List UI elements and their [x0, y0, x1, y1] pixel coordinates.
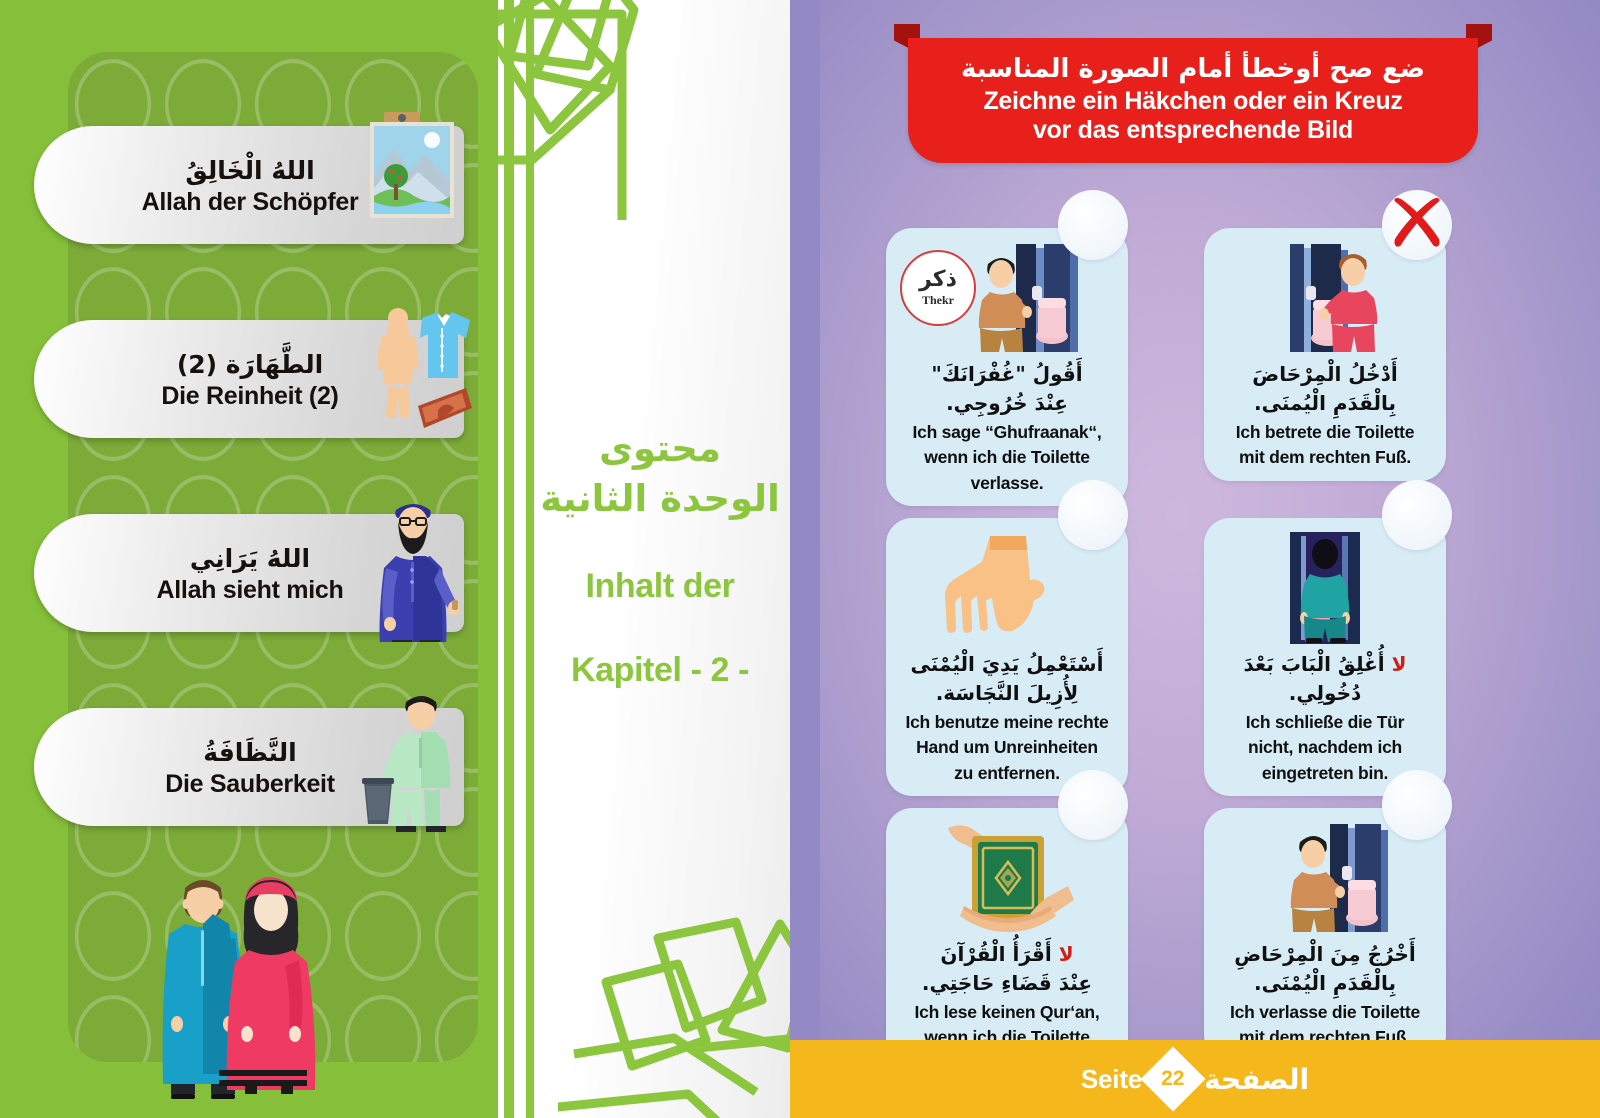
- page-number: 22: [1161, 1067, 1184, 1091]
- card-german-line1-1: Ich sage “Ghufraanak“,: [912, 421, 1101, 443]
- thekr-logo-icon: ذكر Thekr: [900, 250, 976, 326]
- card-german-line1-5: Ich lese keinen Qur‘an,: [915, 1001, 1100, 1023]
- topic-item-4[interactable]: النَّظَافَةُ Die Sauberkeit: [34, 708, 464, 826]
- topic-item-2[interactable]: الطَّهَارَة (2) Die Reinheit (2): [34, 320, 464, 438]
- exercise-card-grid: أَقُولُ "غُفْرَانَكَ" عِنْدَ خُرُوجِي. I…: [876, 190, 1566, 1040]
- topic-item-1[interactable]: اللهُ الْخَالِقُ Allah der Schöpfer: [34, 126, 464, 244]
- card-german-line2-2: mit dem rechten Fuß.: [1239, 446, 1411, 468]
- answer-circle-1[interactable]: [1058, 190, 1128, 260]
- person-in-doorway-icon: [1220, 532, 1430, 644]
- topic-arabic-label: اللهُ يَرَانِي: [190, 544, 310, 574]
- card-arabic-line2-1: عِنْدَ خُرُوجِي.: [946, 389, 1068, 418]
- instruction-german-line1: Zeichne ein Häkchen oder ein Kreuz: [983, 87, 1402, 117]
- clothes-prayer-mat-icon: [362, 298, 472, 448]
- card-german-line3-4: eingetreten bin.: [1262, 762, 1388, 784]
- center-title-arabic-line2: الوحدة الثانية: [534, 474, 786, 524]
- card-arabic-line1-2: أَدْخُلُ الْمِرْحَاضَ: [1252, 360, 1397, 389]
- card-arabic-line1-5: لا أَقْرَأُ الْقُرْآنَ: [940, 940, 1073, 969]
- boy-exiting-toilet-icon: [1220, 822, 1430, 934]
- right-hand-icon: [902, 532, 1112, 644]
- topic-item-3[interactable]: اللهُ يَرَانِي Allah sieht mich: [34, 514, 464, 632]
- instruction-banner: ضع صح أوخطأ أمام الصورة المناسبة Zeichne…: [908, 38, 1478, 163]
- card-german-line3-3: zu entfernen.: [954, 762, 1060, 784]
- card-arabic-line1-6: أَخْرُجُ مِنَ الْمِرْحَاضِ: [1234, 940, 1415, 969]
- topic-arabic-label: اللهُ الْخَالِقُ: [185, 156, 314, 186]
- safha-label: الصفحة: [1204, 1063, 1309, 1096]
- answer-circle-5[interactable]: [1058, 770, 1128, 840]
- hands-holding-quran-icon: [902, 822, 1112, 934]
- card-german-line3-1: verlasse.: [971, 472, 1044, 494]
- center-title: محتوى الوحدة الثانية Inhalt der Kapitel …: [534, 424, 786, 692]
- thekr-arabic: ذكر: [919, 269, 957, 291]
- card-arabic-line1-4: لا أُغْلِقُ الْبَابَ بَعْدَ دُخُولِي.: [1214, 650, 1436, 708]
- exercise-card-3[interactable]: أَسْتَعْمِلُ يَدِيَ الْيُمْنَى لِأُزِيلَ…: [886, 518, 1128, 796]
- page-footer: Seite 22 الصفحة: [790, 1040, 1600, 1118]
- center-title-german-line1: Inhalt der: [534, 564, 786, 608]
- answer-circle-3[interactable]: [1058, 480, 1128, 550]
- topic-german-label: Die Sauberkeit: [165, 770, 334, 799]
- center-title-column: محتوى الوحدة الثانية Inhalt der Kapitel …: [498, 0, 790, 1118]
- card-german-line1-4: Ich schließe die Tür: [1246, 711, 1404, 733]
- negation-marker-5: لا: [1059, 942, 1074, 966]
- cross-mark-icon: [1382, 190, 1452, 260]
- card-arabic-line2-6: بِالْقَدَمِ الْيُمْنَى.: [1254, 969, 1396, 998]
- exercise-card-2[interactable]: أَدْخُلُ الْمِرْحَاضَ بِالْقَدَمِ الْيُم…: [1204, 228, 1446, 481]
- topic-arabic-label: النَّظَافَةُ: [203, 738, 296, 768]
- card-german-line2-3: Hand um Unreinheiten: [916, 736, 1098, 758]
- negation-marker-4: لا: [1392, 652, 1407, 676]
- boy-with-trash-bin-icon: [362, 686, 472, 836]
- card-arabic-line2-5: عِنْدَ قَضَاءِ حَاجَتِي.: [922, 969, 1092, 998]
- exercise-card-4[interactable]: لا أُغْلِقُ الْبَابَ بَعْدَ دُخُولِي. Ic…: [1204, 518, 1446, 796]
- islamic-pattern-bottom-icon: [558, 888, 790, 1118]
- thekr-label: Thekr: [922, 293, 954, 308]
- card-picture-3: [902, 532, 1112, 644]
- islamic-pattern-top-icon: [498, 0, 742, 230]
- seite-label: Seite: [1081, 1064, 1142, 1095]
- man-with-beard-icon: [362, 492, 472, 642]
- card-german-line1-6: Ich verlasse die Toilette: [1230, 1001, 1420, 1023]
- card-arabic-line1-1: أَقُولُ "غُفْرَانَكَ": [931, 360, 1082, 389]
- topic-arabic-label: الطَّهَارَة (2): [177, 350, 323, 380]
- worksheet-page: اللهُ الْخَالِقُ Allah der Schöpfer: [0, 0, 1600, 1118]
- center-title-german-line2: Kapitel - 2 -: [534, 648, 786, 692]
- answer-circle-4[interactable]: [1382, 480, 1452, 550]
- topic-list: اللهُ الْخَالِقُ Allah der Schöpfer: [0, 0, 498, 1118]
- card-german-line1-2: Ich betrete die Toilette: [1236, 421, 1414, 443]
- answer-circle-6[interactable]: [1382, 770, 1452, 840]
- topic-german-label: Allah sieht mich: [157, 576, 344, 605]
- right-exercise-panel: ضع صح أوخطأ أمام الصورة المناسبة Zeichne…: [790, 0, 1600, 1118]
- topic-german-label: Die Reinheit (2): [161, 382, 338, 411]
- instruction-arabic: ضع صح أوخطأ أمام الصورة المناسبة: [961, 55, 1425, 85]
- exercise-card-6[interactable]: أَخْرُجُ مِنَ الْمِرْحَاضِ بِالْقَدَمِ ا…: [1204, 808, 1446, 1061]
- purple-edge-decoration: [790, 0, 820, 1118]
- instruction-german-line2: vor das entsprechende Bild: [1033, 116, 1353, 146]
- card-picture-4: [1220, 532, 1430, 644]
- page-number-diamond: 22: [1141, 1046, 1206, 1111]
- topic-german-label: Allah der Schöpfer: [142, 188, 359, 217]
- card-picture-6: [1220, 822, 1430, 934]
- card-german-line2-1: wenn ich die Toilette: [924, 446, 1090, 468]
- card-german-line1-3: Ich benutze meine rechte: [905, 711, 1108, 733]
- card-arabic-line1-3: أَسْتَعْمِلُ يَدِيَ الْيُمْنَى: [911, 650, 1104, 679]
- card-picture-5: [902, 822, 1112, 934]
- card-arabic-line2-2: بِالْقَدَمِ الْيُمنَى.: [1254, 389, 1396, 418]
- left-contents-panel: اللهُ الْخَالِقُ Allah der Schöpfer: [0, 0, 498, 1118]
- card-german-line2-4: nicht, nachdem ich: [1248, 736, 1402, 758]
- center-title-arabic-line1: محتوى: [534, 424, 786, 474]
- card-arabic-line2-3: لِأُزِيلَ النَّجَاسَة.: [936, 679, 1079, 708]
- landscape-painting-icon: [362, 104, 472, 254]
